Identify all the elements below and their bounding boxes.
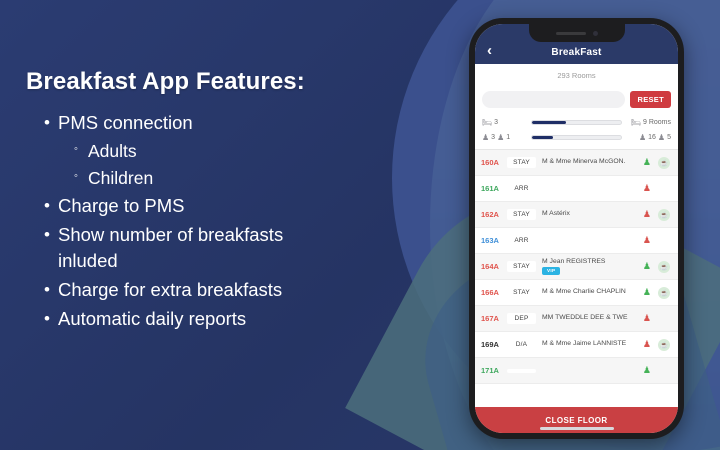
icon-placeholder [658, 365, 670, 377]
guest-red-icon[interactable]: ♟ [643, 184, 651, 193]
range-slider[interactable] [531, 120, 622, 125]
phone-screen: ‹ BreakFast 293 Rooms RESET 🛏3🛏9 Rooms♟3… [475, 24, 678, 433]
feature-bullet: •PMS connection [44, 110, 386, 137]
adult-child-icon: ♟ [482, 134, 489, 142]
feature-bullet: •Charge for extra breakfasts [44, 277, 386, 304]
feature-bullet-label: PMS connection [58, 110, 193, 137]
room-status: STAY [507, 261, 536, 272]
guest-green-icon[interactable]: ♟ [643, 366, 651, 375]
guest-red-icon[interactable]: ♟ [643, 210, 651, 219]
room-number: 166A [481, 288, 507, 297]
breakfast-tray-icon[interactable]: ☕ [658, 209, 670, 221]
feature-bullet: •Show number of breakfasts inluded [44, 222, 386, 275]
reset-button[interactable]: RESET [630, 91, 671, 108]
feature-bullet-label: Charge for extra breakfasts [58, 277, 282, 304]
bed-icon: 🛏 [631, 119, 641, 127]
vip-badge: VIP [542, 267, 560, 275]
room-row[interactable]: 162ASTAYM Astérix♟☕ [475, 202, 678, 228]
row-icons: ♟ [630, 235, 672, 247]
breakfast-tray-icon[interactable]: ☕ [658, 287, 670, 299]
filter-max-side: 🛏9 Rooms [627, 119, 671, 127]
room-number: 162A [481, 210, 507, 219]
filter-max-value: 9 Rooms [643, 119, 671, 126]
filter-max-side: ♟16♟5 [627, 134, 671, 142]
row-icons: ♟☕ [630, 287, 672, 299]
room-row[interactable]: 163AARR♟ [475, 228, 678, 254]
page-title: Breakfast App Features: [26, 68, 386, 96]
guest-green-icon[interactable]: ♟ [643, 158, 651, 167]
guest-name: MM TWEDDLE DEE & TWE [542, 314, 627, 321]
feature-bullet: •Charge to PMS [44, 193, 386, 220]
bullet-marker-icon: • [44, 277, 58, 303]
bed-icon: 🛏 [482, 119, 492, 127]
room-status: ARR [507, 235, 536, 246]
row-icons: ♟☕ [630, 157, 672, 169]
room-number: 164A [481, 262, 507, 271]
room-row[interactable]: 164ASTAYM Jean REGISTRESVIP♟☕ [475, 254, 678, 280]
guest-name-cell: M Astérix [536, 210, 630, 218]
row-icons: ♟ [630, 365, 672, 377]
feature-bullet: •Automatic daily reports [44, 306, 386, 333]
room-row[interactable]: 161AARR♟ [475, 176, 678, 202]
guest-red-icon[interactable]: ♟ [643, 236, 651, 245]
row-icons: ♟☕ [630, 209, 672, 221]
phone-notch [529, 24, 625, 42]
icon-placeholder [658, 313, 670, 325]
child-icon: ♟ [497, 134, 504, 142]
row-icons: ♟ [630, 313, 672, 325]
camera-icon [593, 31, 598, 36]
room-row[interactable]: 160ASTAYM & Mme Minerva McGON.♟☕ [475, 150, 678, 176]
breakfast-tray-icon[interactable]: ☕ [658, 157, 670, 169]
feature-bullet-label: Adults [88, 139, 137, 164]
filter-max-value2: 5 [667, 134, 671, 141]
bullet-marker-icon: • [44, 110, 58, 136]
presentation-slide: Breakfast App Features: •PMS connection◦… [0, 0, 720, 450]
filter-slider-row: ♟3♟1♟16♟5 [482, 130, 671, 145]
adult-child-icon: ♟ [639, 134, 646, 142]
filter-min-side: 🛏3 [482, 119, 526, 127]
bullet-marker-icon: ◦ [74, 166, 88, 187]
app-title: BreakFast [475, 47, 678, 58]
room-number: 160A [481, 158, 507, 167]
room-status: STAY [507, 209, 536, 220]
guest-name-cell: M & Mme Minerva McGON. [536, 158, 630, 166]
icon-placeholder [658, 183, 670, 195]
filter-min-value2: 1 [506, 134, 510, 141]
child-icon: ♟ [658, 134, 665, 142]
guest-name-cell: M & Mme Charlie CHAPLIN [536, 288, 630, 296]
room-row[interactable]: 171A♟ [475, 358, 678, 384]
room-status: STAY [507, 157, 536, 168]
filter-slider-row: 🛏3🛏9 Rooms [482, 115, 671, 130]
search-input[interactable] [482, 91, 625, 108]
guest-red-icon[interactable]: ♟ [643, 314, 651, 323]
row-icons: ♟☕ [630, 339, 672, 351]
range-slider[interactable] [531, 135, 622, 140]
room-status: STAY [507, 287, 536, 298]
guest-name: M & Mme Charlie CHAPLIN [542, 288, 626, 295]
room-number: 171A [481, 366, 507, 375]
feature-bullet-label: Show number of breakfasts inluded [58, 222, 283, 275]
guest-green-icon[interactable]: ♟ [643, 288, 651, 297]
room-status [507, 369, 536, 373]
features-panel: Breakfast App Features: •PMS connection◦… [26, 68, 386, 334]
home-indicator [540, 427, 614, 430]
feature-bullet: ◦Children [74, 166, 386, 191]
icon-placeholder [658, 235, 670, 247]
filter-max-value: 16 [648, 134, 656, 141]
room-number: 169A [481, 340, 507, 349]
filter-min-value: 3 [494, 119, 498, 126]
room-number: 167A [481, 314, 507, 323]
guest-name-cell: M Jean REGISTRESVIP [536, 258, 630, 276]
phone-mockup: ‹ BreakFast 293 Rooms RESET 🛏3🛏9 Rooms♟3… [469, 18, 684, 439]
feature-bullet: ◦Adults [74, 139, 386, 164]
guest-name: M & Mme Jaime LANNISTE [542, 340, 626, 347]
guest-name-cell: M & Mme Jaime LANNISTE [536, 340, 630, 348]
bullet-marker-icon: • [44, 193, 58, 219]
feature-bullet-label: Charge to PMS [58, 193, 184, 220]
feature-bullet-list: •PMS connection◦Adults◦Children•Charge t… [26, 110, 386, 332]
rooms-count-label: 293 Rooms [475, 64, 678, 86]
guest-name: M Jean REGISTRES [542, 258, 605, 265]
bullet-marker-icon: • [44, 222, 58, 248]
guest-name: M Astérix [542, 210, 570, 217]
bullet-marker-icon: • [44, 306, 58, 332]
row-icons: ♟ [630, 183, 672, 195]
room-row[interactable]: 169AD/AM & Mme Jaime LANNISTE♟☕ [475, 332, 678, 358]
filter-sliders: 🛏3🛏9 Rooms♟3♟1♟16♟5 [475, 112, 678, 150]
room-number: 161A [481, 184, 507, 193]
room-row[interactable]: 167ADEPMM TWEDDLE DEE & TWE♟ [475, 306, 678, 332]
speaker-icon [556, 32, 586, 35]
breakfast-tray-icon[interactable]: ☕ [658, 261, 670, 273]
room-row[interactable]: 166ASTAYM & Mme Charlie CHAPLIN♟☕ [475, 280, 678, 306]
guest-name: M & Mme Minerva McGON. [542, 158, 625, 165]
room-list[interactable]: 160ASTAYM & Mme Minerva McGON.♟☕161AARR♟… [475, 150, 678, 407]
breakfast-tray-icon[interactable]: ☕ [658, 339, 670, 351]
feature-bullet-label: Children [88, 166, 153, 191]
guest-name-cell: MM TWEDDLE DEE & TWE [536, 314, 630, 322]
guest-green-icon[interactable]: ♟ [643, 262, 651, 271]
filter-min-side: ♟3♟1 [482, 134, 526, 142]
room-status: D/A [507, 339, 536, 350]
bullet-marker-icon: ◦ [74, 139, 88, 160]
filter-min-value: 3 [491, 134, 495, 141]
room-number: 163A [481, 236, 507, 245]
room-status: DEP [507, 313, 536, 324]
room-status: ARR [507, 183, 536, 194]
feature-bullet-label: Automatic daily reports [58, 306, 246, 333]
search-row: RESET [475, 86, 678, 112]
row-icons: ♟☕ [630, 261, 672, 273]
guest-red-icon[interactable]: ♟ [643, 340, 651, 349]
